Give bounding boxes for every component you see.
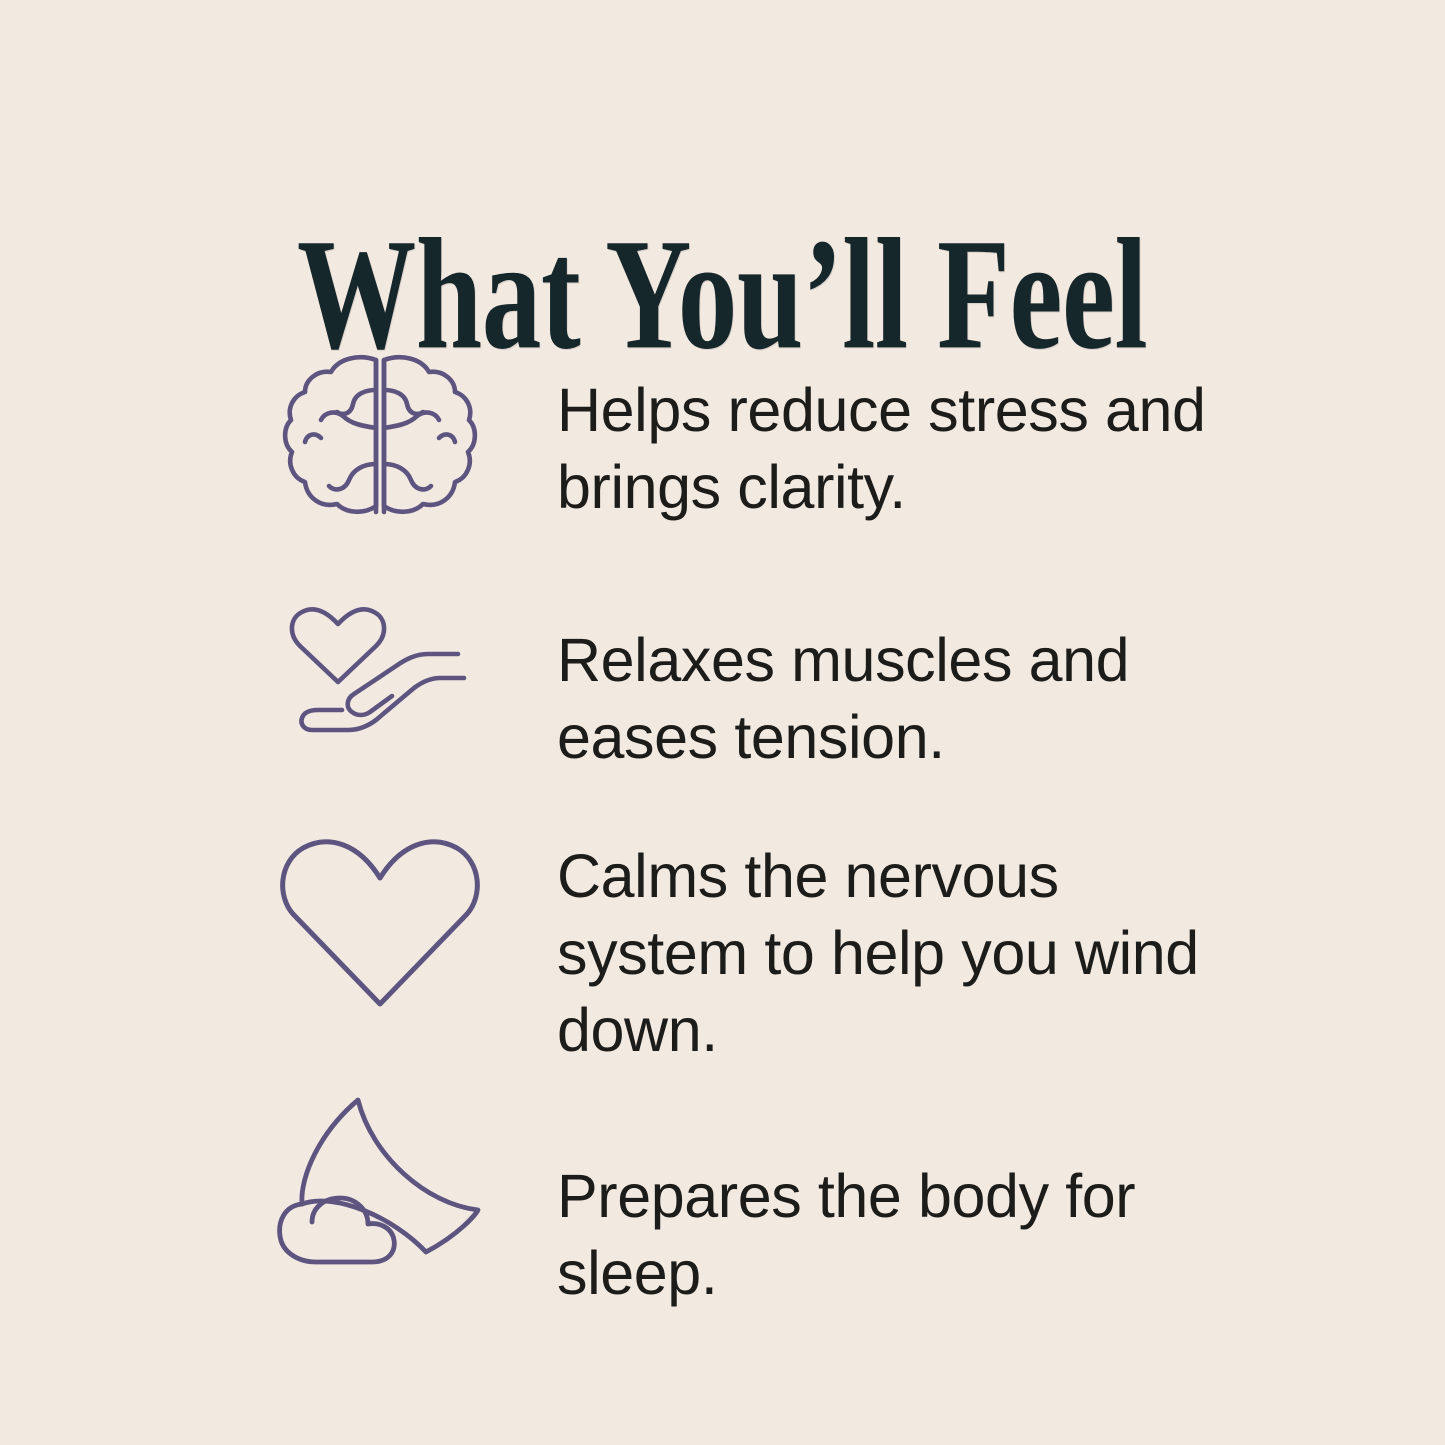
feature-item: Prepares the body for sleep. [262,1092,1262,1312]
feature-text: Calms the nervous system to help you win… [557,832,1217,1069]
feature-text: Prepares the body for sleep. [557,1092,1217,1312]
brain-icon [262,340,497,520]
feature-text: Helps reduce stress and brings clarity. [557,340,1217,526]
feature-item: Calms the nervous system to help you win… [262,832,1262,1069]
crescent-moon-cloud-icon [262,1092,497,1278]
heart-outline-icon [262,832,497,1012]
feature-text: Relaxes muscles and eases tension. [557,602,1217,776]
feature-text-cell: Helps reduce stress and brings clarity. [497,340,1262,526]
heart-in-hand-icon [262,602,497,756]
feature-text-cell: Relaxes muscles and eases tension. [497,602,1262,776]
feature-text-cell: Prepares the body for sleep. [497,1092,1262,1312]
infographic-page: What You’ll Feel [0,0,1445,1445]
feature-item: Relaxes muscles and eases tension. [262,602,1262,776]
feature-text-cell: Calms the nervous system to help you win… [497,832,1262,1069]
feature-item: Helps reduce stress and brings clarity. [262,340,1262,526]
